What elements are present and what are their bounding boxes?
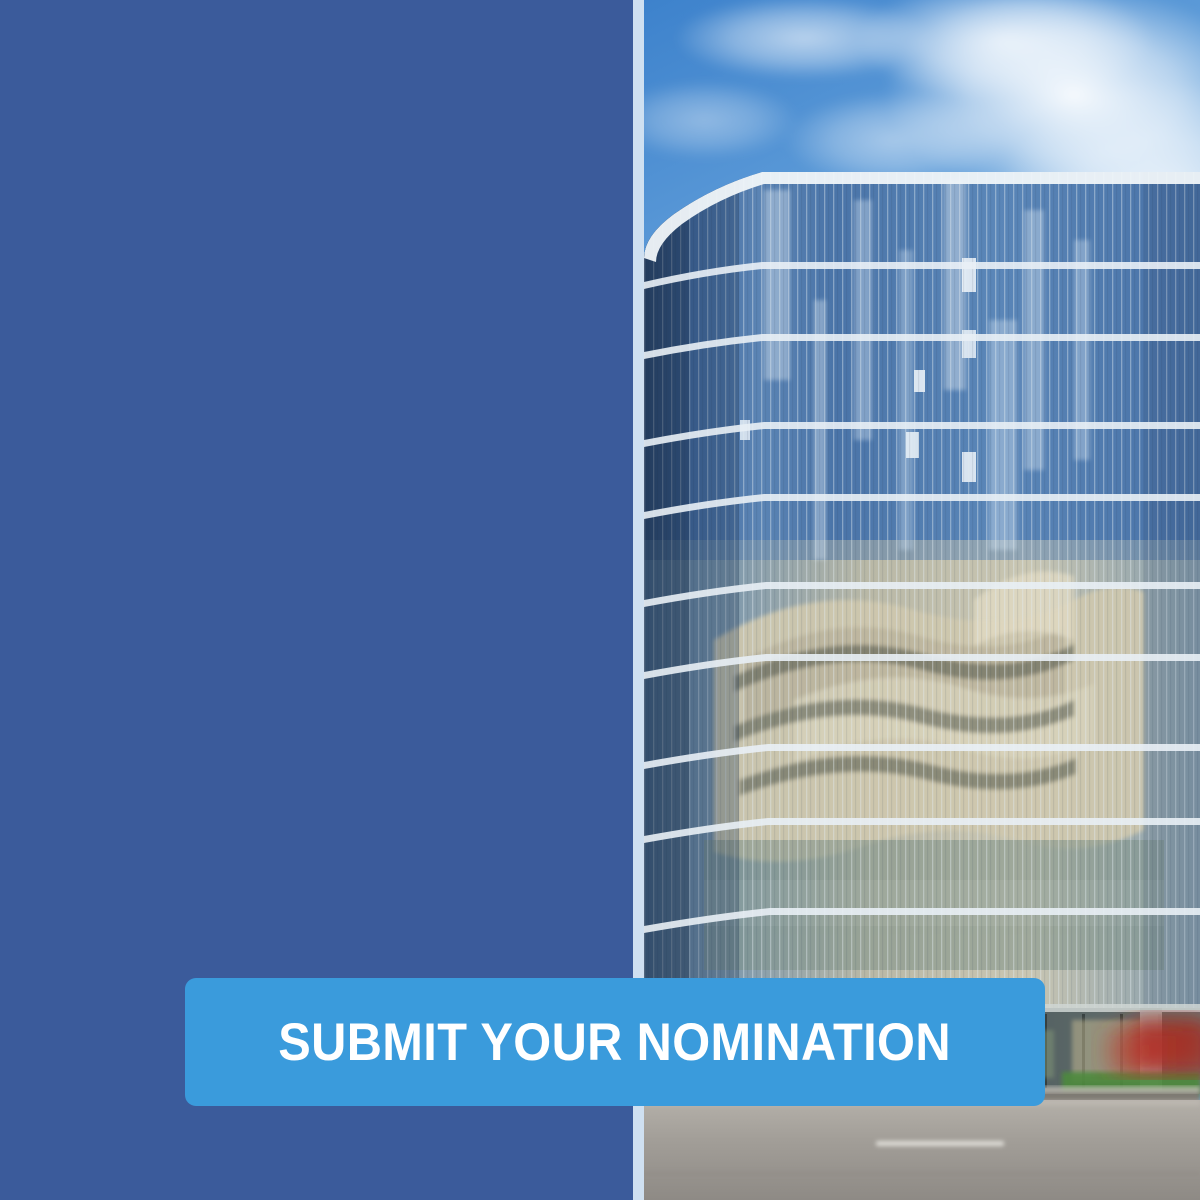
submit-nomination-label: SUBMIT YOUR NOMINATION (279, 1012, 952, 1073)
promo-graphic: Lean Construction Institute Transforming… (0, 0, 1200, 1200)
submit-nomination-button[interactable]: SUBMIT YOUR NOMINATION (185, 978, 1045, 1106)
